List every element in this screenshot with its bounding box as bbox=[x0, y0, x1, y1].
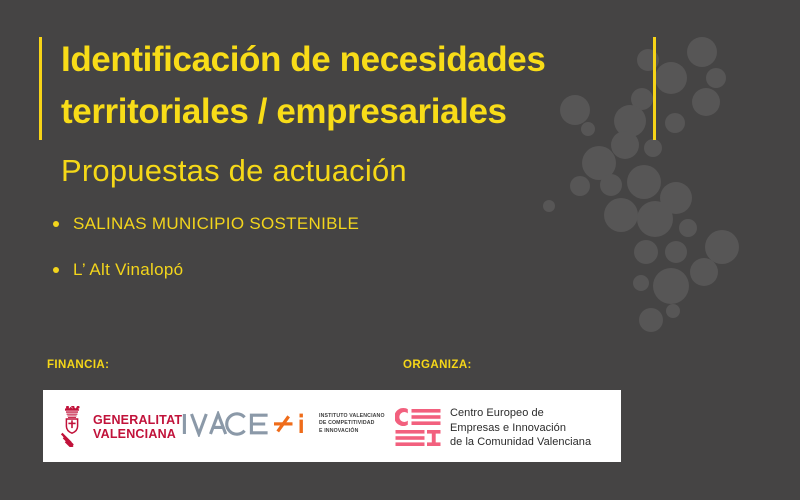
ceei-line-2: Empresas e Innovación bbox=[450, 421, 591, 436]
ceei-line-3: de la Comunidad Valenciana bbox=[450, 435, 591, 450]
list-item-label: L’ Alt Vinalopó bbox=[73, 260, 183, 279]
financia-label: FINANCIA: bbox=[47, 359, 109, 371]
generalitat-wordmark: GENERALITAT VALENCIANA bbox=[93, 413, 182, 441]
page-subtitle: Propuestas de actuación bbox=[61, 152, 407, 190]
bullet-dot-icon bbox=[53, 267, 59, 273]
ivace-wordmark-icon bbox=[182, 411, 310, 437]
generalitat-line-1: GENERALITAT bbox=[93, 413, 182, 427]
ivace-tagline: INSTITUTO VALENCIANO DE COMPETITIVIDAD E… bbox=[319, 413, 385, 435]
title-rule-right-icon bbox=[653, 37, 656, 140]
logo-ceei: Centro Europeo de Empresas e Innovación … bbox=[395, 406, 591, 450]
generalitat-crown-shield-icon bbox=[59, 406, 85, 447]
list-item: L’ Alt Vinalopó bbox=[50, 258, 359, 282]
title-rule-left-icon bbox=[39, 37, 42, 140]
list-item-label: SALINAS MUNICIPIO SOSTENIBLE bbox=[73, 214, 359, 233]
bullet-list: SALINAS MUNICIPIO SOSTENIBLE L’ Alt Vina… bbox=[50, 212, 359, 304]
title-block: Identificación de necesidades territoria… bbox=[39, 34, 659, 142]
list-item: SALINAS MUNICIPIO SOSTENIBLE bbox=[50, 212, 359, 236]
organiza-label: ORGANIZA: bbox=[403, 359, 472, 371]
page-title: Identificación de necesidades territoria… bbox=[61, 34, 641, 138]
generalitat-line-2: VALENCIANA bbox=[93, 427, 182, 441]
sponsor-logo-bar: GENERALITAT VALENCIANA bbox=[43, 390, 621, 462]
bullet-dot-icon bbox=[53, 221, 59, 227]
logo-ivace: INSTITUTO VALENCIANO DE COMPETITIVIDAD E… bbox=[182, 411, 385, 437]
logo-generalitat-valenciana: GENERALITAT VALENCIANA bbox=[59, 406, 182, 447]
ceei-monogram-icon bbox=[395, 407, 441, 448]
ceei-line-1: Centro Europeo de bbox=[450, 406, 591, 421]
presentation-slide: Identificación de necesidades territoria… bbox=[0, 0, 800, 500]
ceei-wordmark: Centro Europeo de Empresas e Innovación … bbox=[450, 406, 591, 450]
